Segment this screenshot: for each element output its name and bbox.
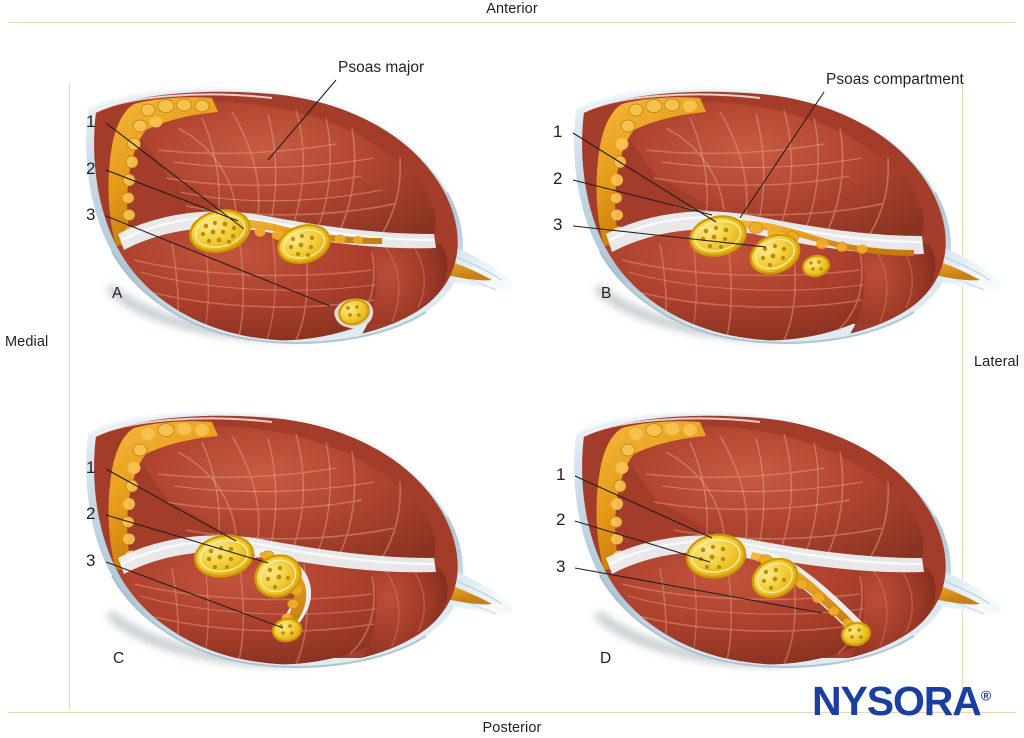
label-d-2: 2 [556,510,565,530]
frame-rule-left [69,83,70,710]
label-c-2: 2 [86,504,95,524]
panel-d-illustration [560,404,980,654]
nysora-wordmark: NYSORA [812,678,981,724]
label-b-3: 3 [553,215,562,235]
panel-letter-b: B [601,285,611,303]
label-d-3: 3 [556,557,565,577]
label-b-2: 2 [553,169,562,189]
figure-stage: Anterior Posterior Medial Lateral [0,0,1024,738]
panel-letter-a: A [112,285,122,303]
label-a-3: 3 [86,205,95,225]
panel-letter-c: C [113,650,124,668]
label-d-1: 1 [556,465,565,485]
nysora-logo: NYSORA® [812,681,991,722]
orientation-label-anterior: Anterior [0,1,1024,17]
label-a-2: 2 [86,159,95,179]
label-a-1: 1 [86,112,95,132]
label-c-3: 3 [86,551,95,571]
panel-c-illustration [72,404,492,654]
frame-rule-top [8,22,1016,23]
callout-psoas-compartment: Psoas compartment [826,71,964,89]
panel-a-illustration [72,84,492,324]
panel-b-illustration [560,84,980,324]
orientation-label-medial: Medial [5,334,48,350]
registered-trademark-icon: ® [981,687,991,703]
panel-letter-d: D [600,650,611,668]
callout-psoas-major: Psoas major [338,59,424,77]
label-c-1: 1 [86,458,95,478]
orientation-label-lateral: Lateral [974,354,1019,370]
label-b-1: 1 [553,122,562,142]
